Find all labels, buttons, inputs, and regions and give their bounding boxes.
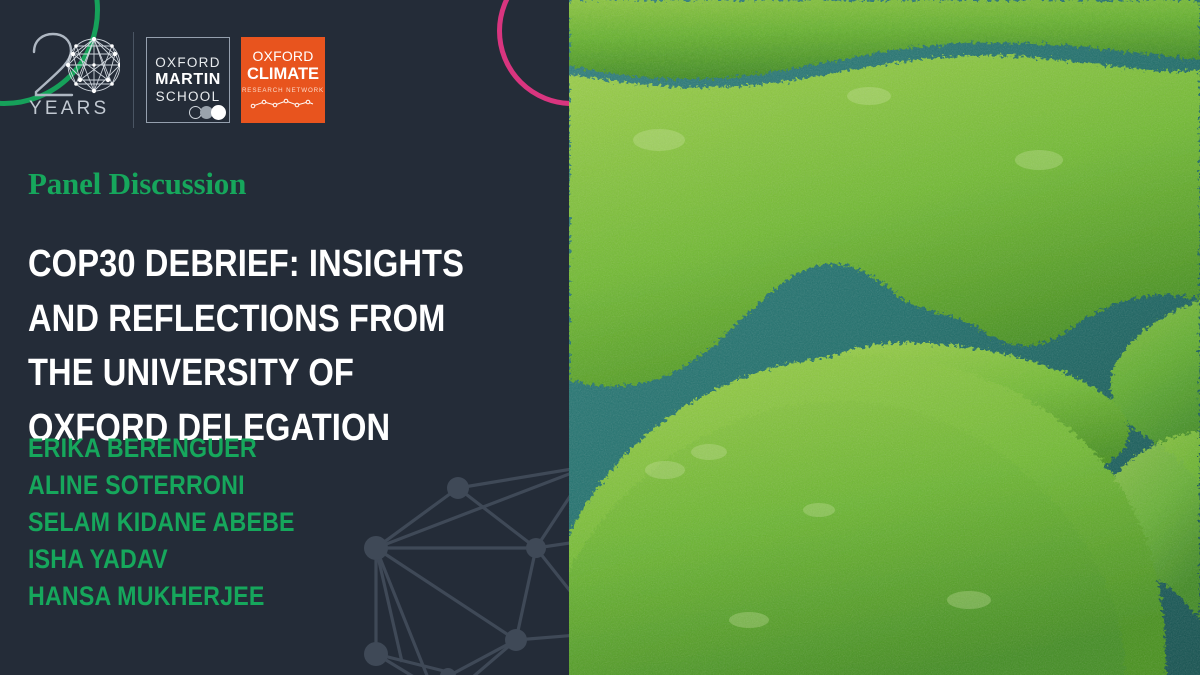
ocrn-network-line-icon xyxy=(250,98,316,111)
logo-divider xyxy=(133,32,134,128)
oxford-martin-school-logo: OXFORD MARTIN SCHOOL xyxy=(146,37,230,123)
oms-line-1: OXFORD xyxy=(155,55,221,71)
event-promo-slide: YEARS OXFORD MARTIN SCHOOL OXFORD CLIMAT… xyxy=(0,0,1200,675)
speaker-name: Isha Yadav xyxy=(28,541,295,578)
pink-circle-decoration xyxy=(497,0,569,106)
oxford-climate-research-network-logo: OXFORD CLIMATE RESEARCH NETWORK xyxy=(241,37,325,123)
speaker-list: Erika Berenguer Aline Soterroni Selam Ki… xyxy=(28,430,295,615)
logo-row: YEARS OXFORD MARTIN SCHOOL OXFORD CLIMAT… xyxy=(28,30,325,130)
content-panel: YEARS OXFORD MARTIN SCHOOL OXFORD CLIMAT… xyxy=(0,0,569,675)
oms-line-3: SCHOOL xyxy=(156,89,221,105)
photo-illustration xyxy=(569,0,1200,675)
event-type-kicker: Panel Discussion xyxy=(28,166,246,202)
ocrn-line-1: OXFORD xyxy=(252,49,313,64)
ocrn-line-3: RESEARCH NETWORK xyxy=(242,87,324,94)
speaker-name: Hansa Mukherjee xyxy=(28,578,295,615)
anniversary-years-label: YEARS xyxy=(28,98,120,120)
mangrove-aerial-photo xyxy=(569,0,1200,675)
anniversary-logo: YEARS xyxy=(28,30,120,130)
page-title: COP30 Debrief: Insights and reflections … xyxy=(28,237,484,456)
oms-line-2: MARTIN xyxy=(155,71,221,90)
oms-dots-icon xyxy=(189,105,226,120)
speaker-name: Aline Soterroni xyxy=(28,467,295,504)
speaker-name: Selam Kidane Abebe xyxy=(28,504,295,541)
ocrn-line-2: CLIMATE xyxy=(247,65,319,83)
network-graphic-decoration xyxy=(340,448,569,675)
twenty-network-sphere-icon xyxy=(28,32,120,98)
speaker-name: Erika Berenguer xyxy=(28,430,295,467)
